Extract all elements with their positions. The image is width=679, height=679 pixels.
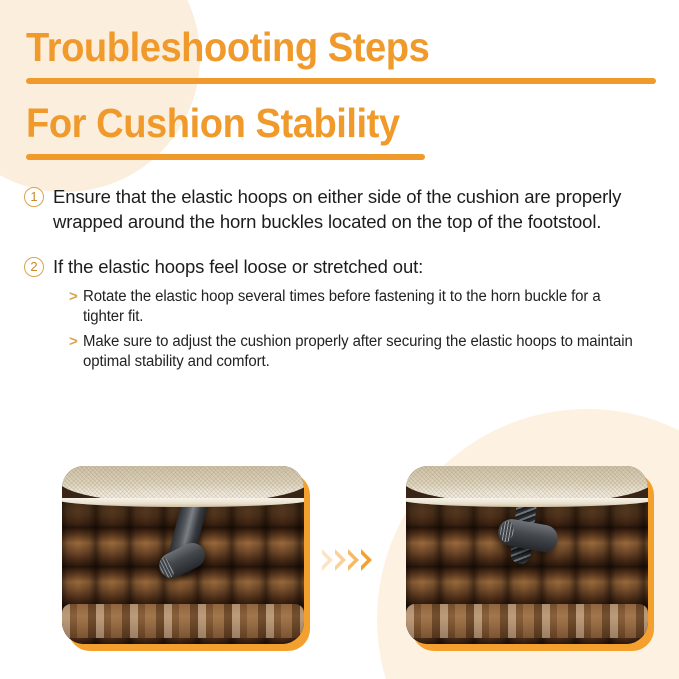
step-text: Ensure that the elastic hoops on either … — [53, 184, 657, 234]
chevron-right-icon — [348, 549, 359, 571]
substep-item: > Rotate the elastic hoop several times … — [69, 287, 657, 328]
page-title-line-2: For Cushion Stability — [26, 102, 611, 145]
chevron-right-icon: > — [69, 332, 78, 352]
transition-arrows — [322, 549, 372, 571]
chevron-right-icon: > — [69, 287, 78, 307]
photo-image-before — [62, 466, 304, 644]
instruction-card: Troubleshooting Steps For Cushion Stabil… — [0, 0, 679, 679]
step-number-badge: 1 — [24, 187, 44, 207]
photo-comparison-row — [0, 455, 679, 655]
substep-text: Rotate the elastic hoop several times be… — [83, 287, 637, 328]
step-item: 1 Ensure that the elastic hoops on eithe… — [24, 184, 657, 234]
chevron-right-icon — [361, 549, 372, 571]
photo-after — [406, 466, 648, 644]
steps-list: 1 Ensure that the elastic hoops on eithe… — [0, 160, 679, 373]
cushion-edge — [406, 466, 648, 504]
substeps-list: > Rotate the elastic hoop several times … — [53, 287, 657, 373]
substep-item: > Make sure to adjust the cushion proper… — [69, 332, 657, 373]
step-body: If the elastic hoops feel loose or stret… — [53, 254, 657, 373]
substep-text: Make sure to adjust the cushion properly… — [83, 332, 637, 373]
chevron-right-icon — [335, 549, 346, 571]
page-title: Troubleshooting Steps For Cushion Stabil… — [0, 0, 679, 160]
page-title-line-1: Troubleshooting Steps — [26, 26, 611, 69]
photo-image-after — [406, 466, 648, 644]
cushion-edge — [62, 466, 304, 504]
step-body: Ensure that the elastic hoops on either … — [53, 184, 657, 234]
step-item: 2 If the elastic hoops feel loose or str… — [24, 254, 657, 373]
step-text: If the elastic hoops feel loose or stret… — [53, 254, 657, 279]
step-number-badge: 2 — [24, 257, 44, 277]
photo-before — [62, 466, 304, 644]
chevron-right-icon — [322, 549, 333, 571]
